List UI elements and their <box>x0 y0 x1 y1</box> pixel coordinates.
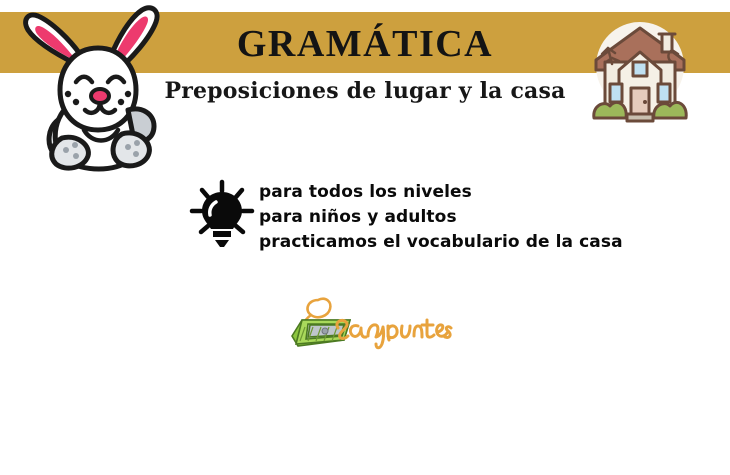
house-icon <box>586 14 694 132</box>
highlight-line-3: practicamos el vocabulario de la casa <box>259 230 649 255</box>
bunny-icon <box>18 2 168 174</box>
page-title: GRAMÁTICA <box>150 24 580 64</box>
highlights-block: para todos los niveles para niños y adul… <box>186 176 656 272</box>
highlight-lines: para todos los niveles para niños y adul… <box>259 180 649 255</box>
highlight-line-2: para niños y adultos <box>259 205 649 230</box>
page-subtitle: Preposiciones de lugar y la casa <box>150 78 580 104</box>
sacapuntes-logo <box>288 294 468 358</box>
poster-canvas: GRAMÁTICA Preposiciones de lugar y la ca… <box>0 0 730 475</box>
highlight-line-1: para todos los niveles <box>259 180 649 205</box>
lightbulb-icon <box>186 178 258 250</box>
